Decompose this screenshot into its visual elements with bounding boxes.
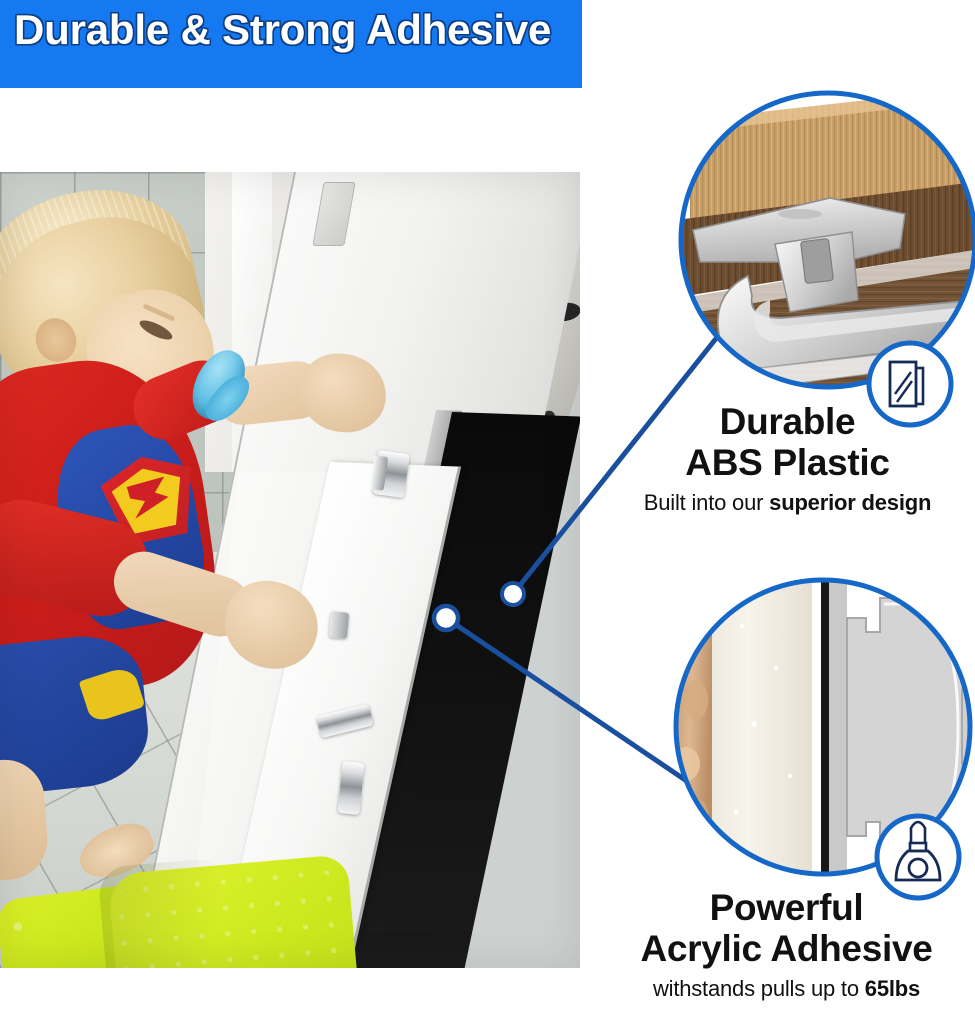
header-banner: Durable & Strong Adhesive: [0, 0, 582, 88]
caption-durable-abs-plastic: Durable ABS Plastic Built into our super…: [600, 402, 975, 517]
drawer-handle-lower: [329, 611, 349, 638]
caption-heading-line1: Durable: [600, 402, 975, 443]
caption-heading-line2: ABS Plastic: [600, 443, 975, 484]
caption-subtext: Built into our superior design: [600, 489, 975, 517]
caption-powerful-acrylic-adhesive: Powerful Acrylic Adhesive withstands pul…: [598, 888, 975, 1003]
glue-bottle-icon: [877, 816, 959, 898]
caption-subtext-bold: 65lbs: [865, 976, 920, 1001]
caption-subtext-plain: Built into our: [644, 490, 769, 515]
caption-subtext: withstands pulls up to 65lbs: [598, 975, 975, 1003]
main-product-photo: [0, 172, 580, 968]
callout-circle-abs-plastic: [660, 88, 975, 420]
caption-subtext-bold: superior design: [769, 490, 931, 515]
caption-subtext-plain: withstands pulls up to: [653, 976, 865, 1001]
caption-heading-line1: Powerful: [598, 888, 975, 929]
banner-title: Durable & Strong Adhesive: [0, 0, 551, 52]
callout-circle-acrylic-adhesive: [672, 580, 975, 880]
caption-heading-line2: Acrylic Adhesive: [598, 929, 975, 970]
